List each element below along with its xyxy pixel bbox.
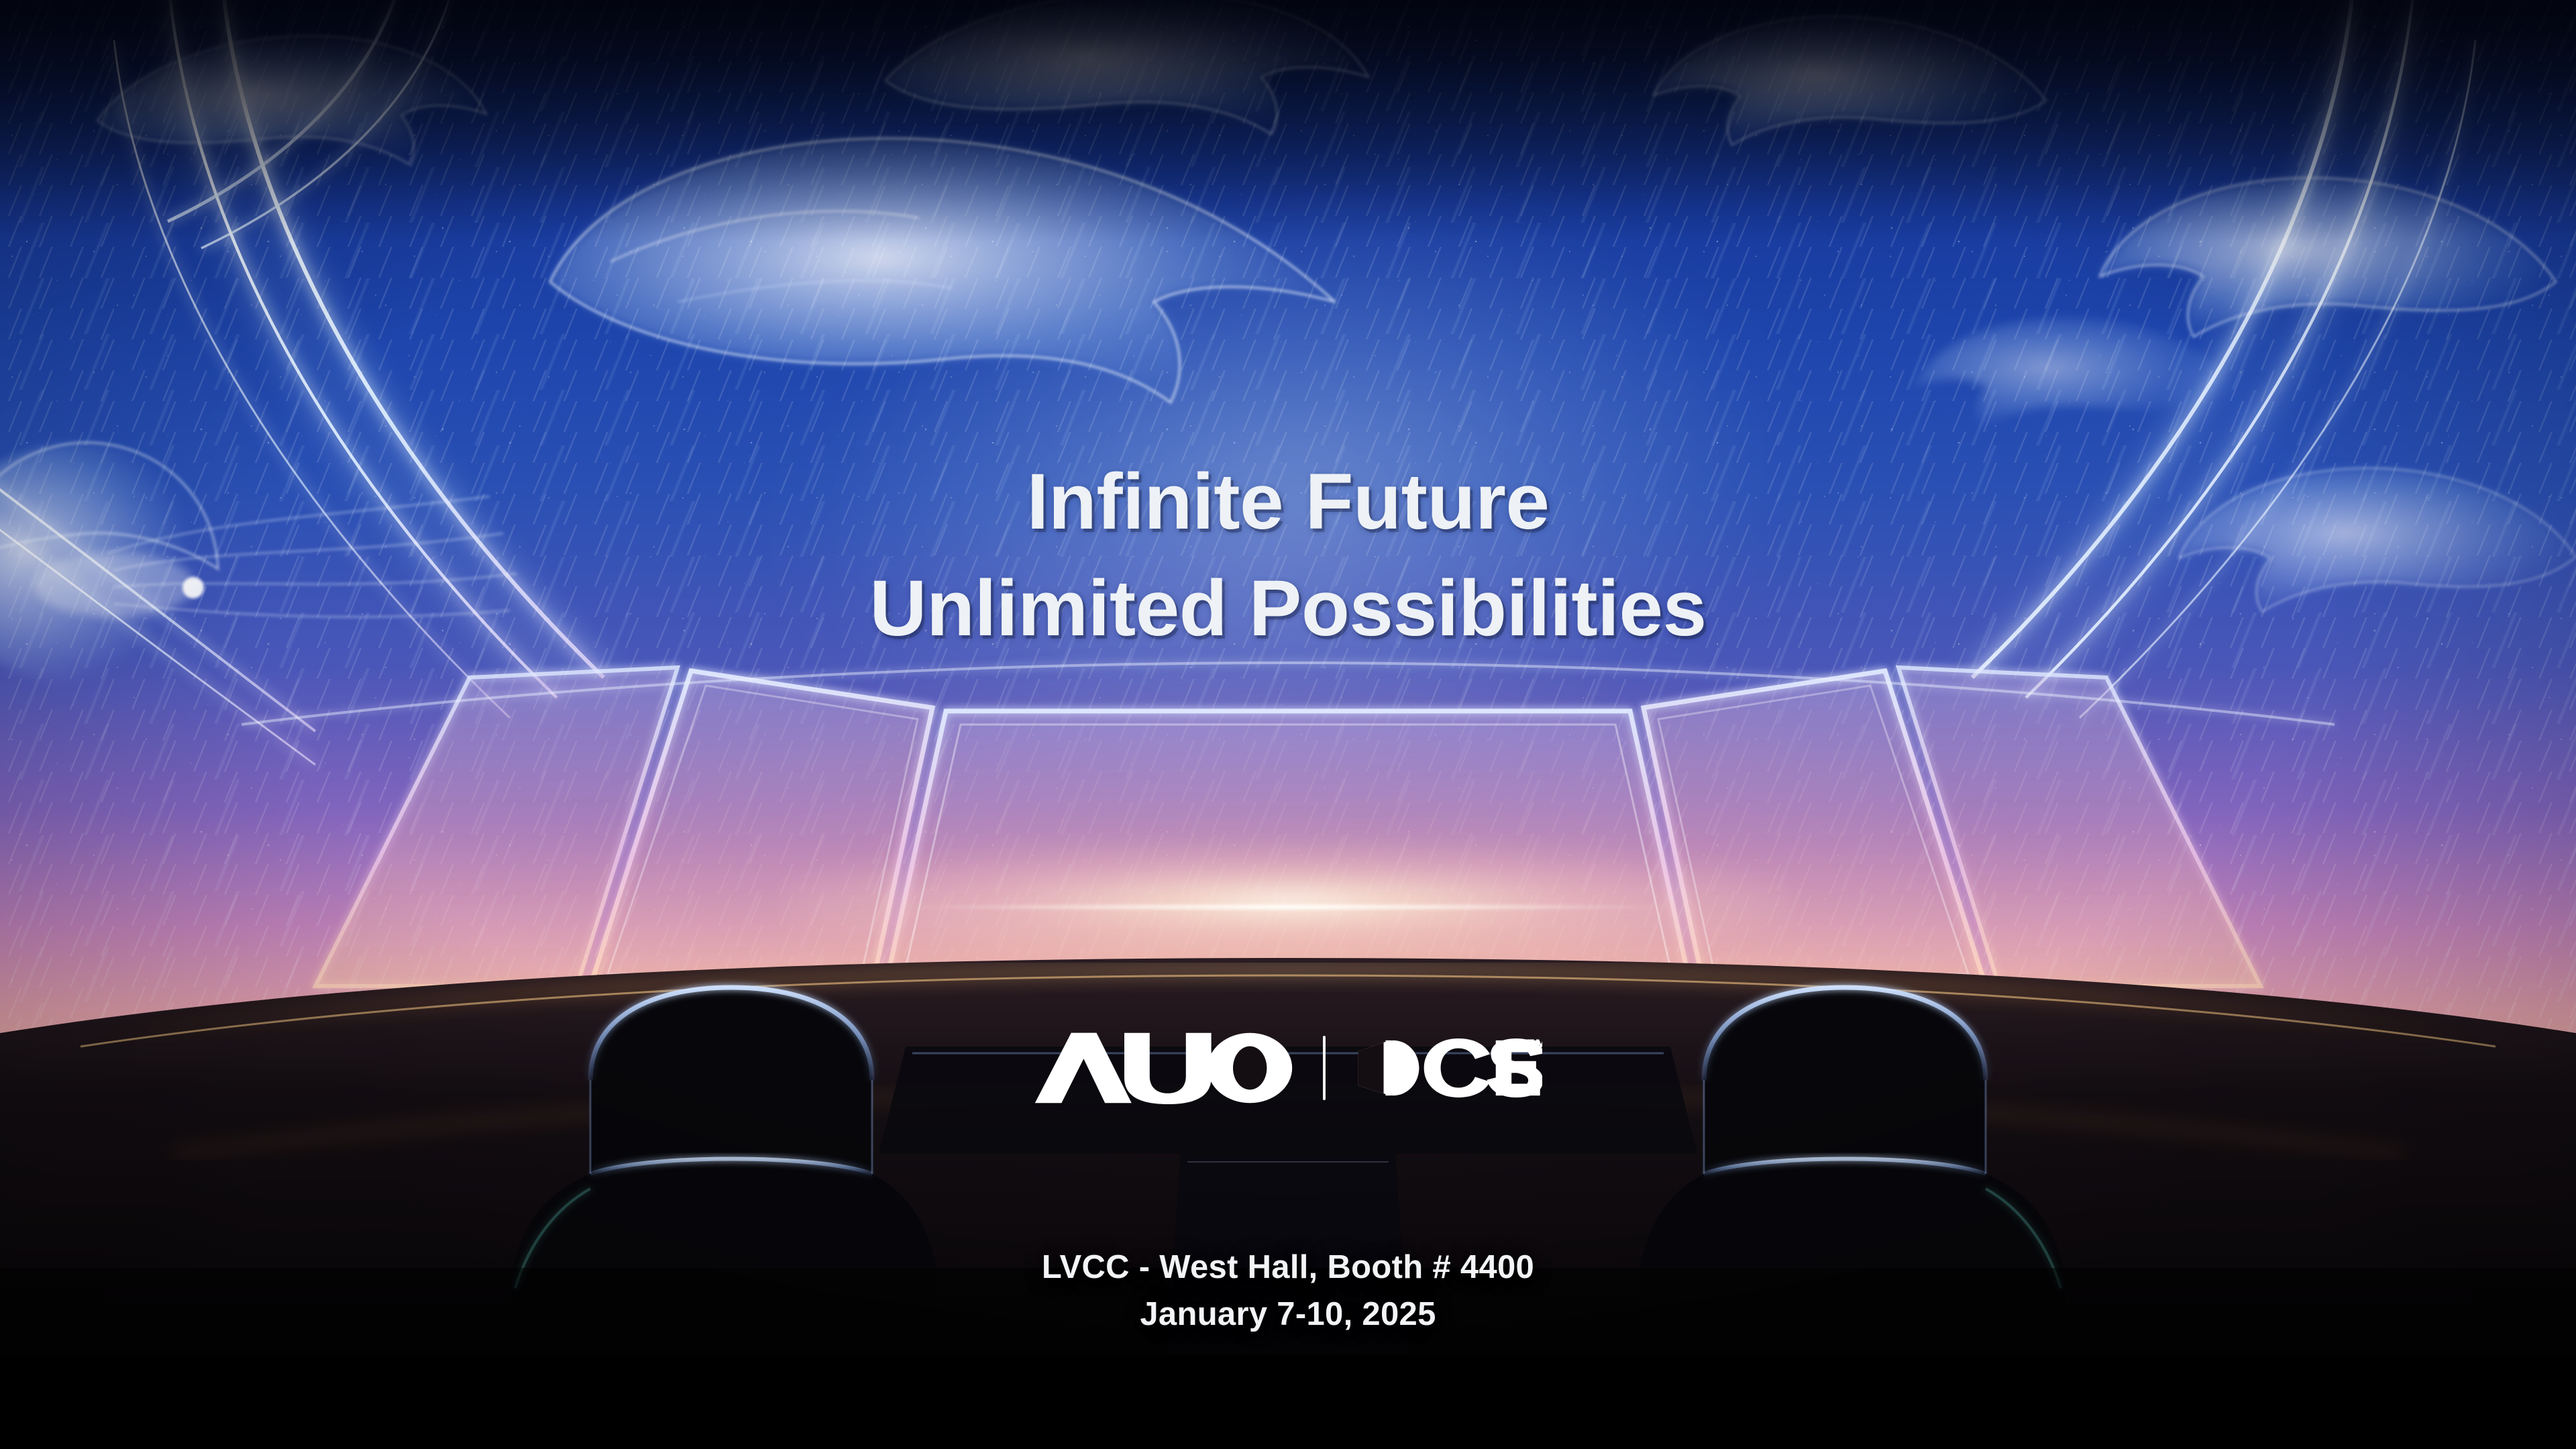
event-dates: January 7-10, 2025 bbox=[0, 1291, 2576, 1338]
top-shade bbox=[0, 0, 2576, 241]
event-venue: LVCC - West Hall, Booth # 4400 bbox=[0, 1244, 2576, 1291]
headline-line-1: Infinite Future bbox=[0, 451, 2576, 553]
logo-separator bbox=[1323, 1036, 1326, 1100]
headline-line-2: Unlimited Possibilities bbox=[0, 557, 2576, 660]
key-visual-stage: Infinite Future Unlimited Possibilities bbox=[0, 0, 2576, 1449]
headline: Infinite Future Unlimited Possibilities bbox=[0, 451, 2576, 661]
auo-logo bbox=[1034, 1032, 1293, 1104]
event-details: LVCC - West Hall, Booth # 4400 January 7… bbox=[0, 1244, 2576, 1338]
logo-lockup bbox=[0, 1032, 2576, 1104]
ces-logo bbox=[1355, 1038, 1542, 1097]
